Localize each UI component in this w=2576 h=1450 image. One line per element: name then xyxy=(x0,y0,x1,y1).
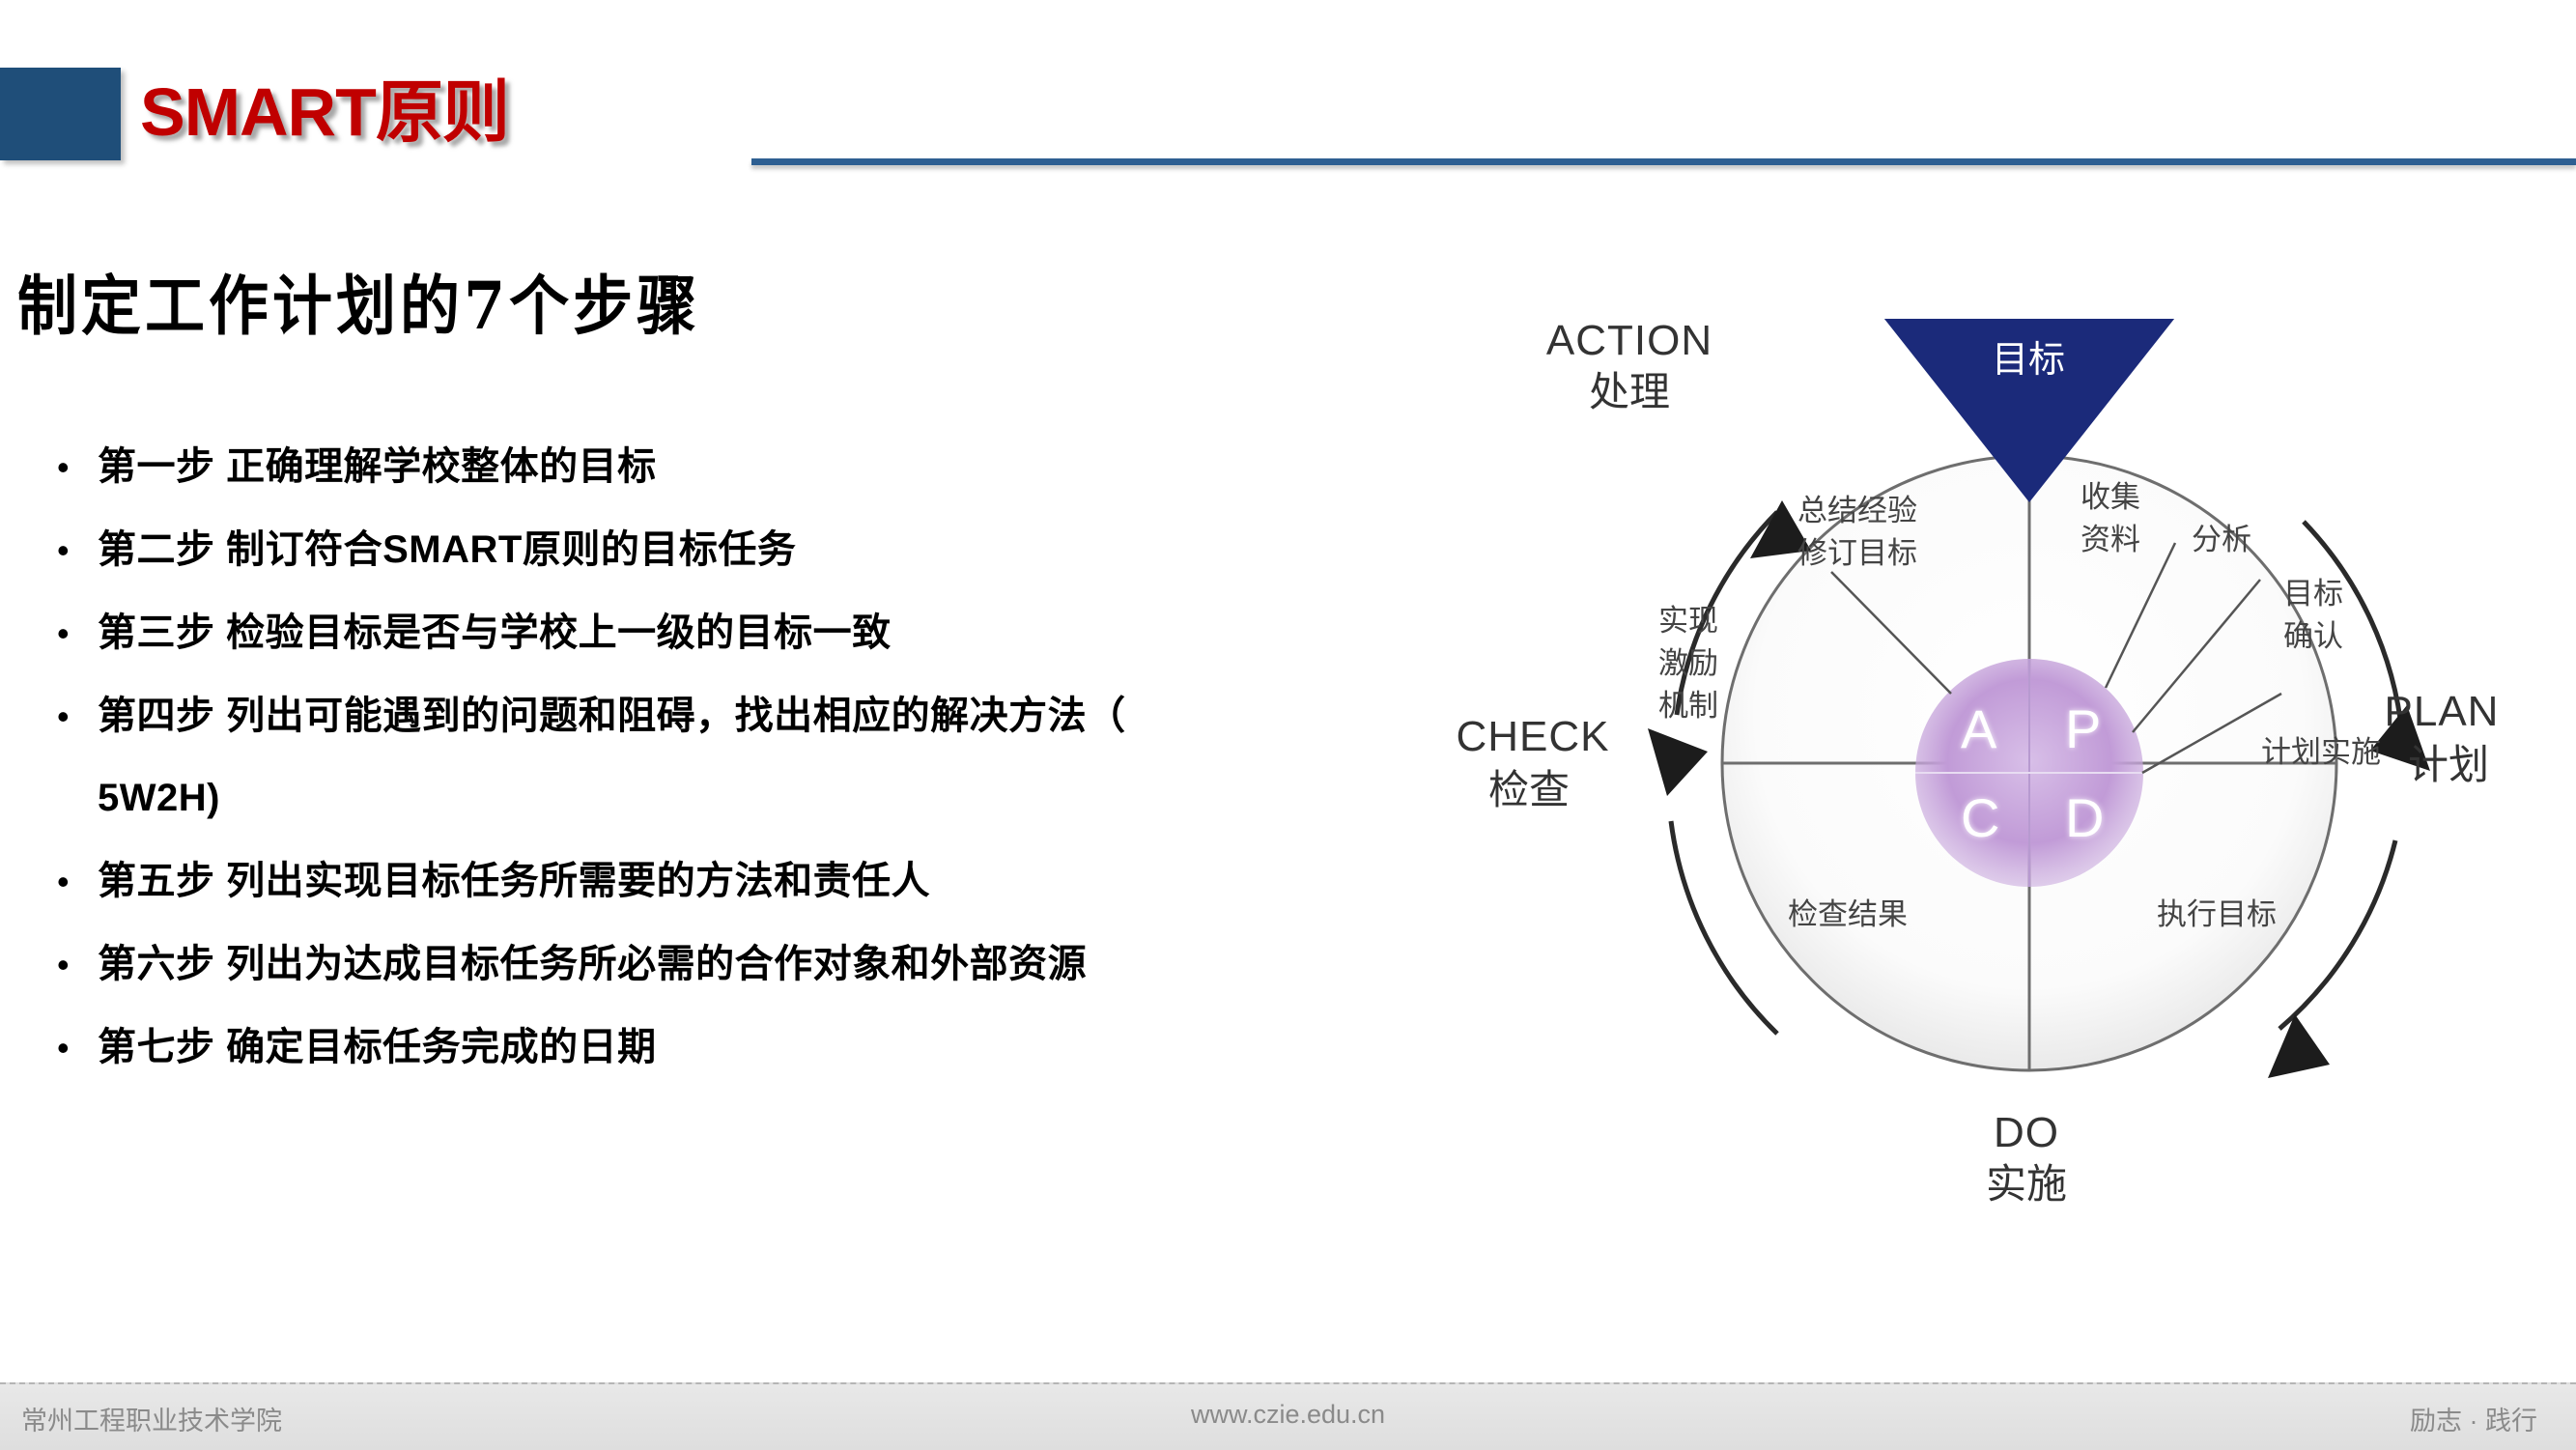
list-item-label: 第一步 正确理解学校整体的目标 xyxy=(98,440,657,495)
label-plan-implement: 计划实施 xyxy=(2210,736,2432,770)
list-item-line-2: 5W2H) xyxy=(98,771,1126,826)
stage-check-en: CHECK xyxy=(1402,713,1663,760)
label-collect-line2: 资料 xyxy=(2048,524,2173,557)
stage-do-cn: 实施 xyxy=(1949,1161,2104,1207)
list-item: • 第一步 正确理解学校整体的目标 xyxy=(53,440,1560,495)
page-title: SMART原则 xyxy=(140,64,509,160)
goal-banner-label: 目标 xyxy=(1956,340,2101,382)
bullet-marker-icon: • xyxy=(53,440,98,495)
stage-do-en: DO xyxy=(1949,1109,2104,1156)
quadrant-letter-c: C xyxy=(1961,786,1999,849)
label-realize-line1: 实现 xyxy=(1630,605,1746,639)
quadrant-letter-p: P xyxy=(2065,697,2101,760)
slide-title-bar: SMART原则 xyxy=(0,68,2576,174)
label-summary-line2: 修订目标 xyxy=(1746,537,1968,571)
stage-action-en: ACTION xyxy=(1499,317,1760,364)
label-realize-line2: 激励 xyxy=(1630,647,1746,681)
stage-check-cn: 检查 xyxy=(1447,767,1611,812)
list-item-line-1: 第四步 列出可能遇到的问题和阻碍，找出相应的解决方法（ xyxy=(98,695,1126,737)
pdca-cycle-diagram: 目标 ACTION 处理 PLAN 计划 CHECK 检查 DO 实施 收集 资… xyxy=(1487,319,2576,1304)
bullet-marker-icon: • xyxy=(53,854,98,909)
section-heading: 制定工作计划的7个步骤 xyxy=(17,253,700,347)
list-item-label: 第六步 列出为达成目标任务所必需的合作对象和外部资源 xyxy=(98,937,1087,992)
list-item: • 第六步 列出为达成目标任务所必需的合作对象和外部资源 xyxy=(53,937,1560,992)
title-divider-line xyxy=(751,158,2576,165)
slide-footer: 常州工程职业技术学院 www.czie.edu.cn 励志 · 践行 xyxy=(0,1382,2576,1450)
label-realize-line3: 机制 xyxy=(1630,690,1746,724)
quadrant-letter-a: A xyxy=(1961,697,1996,760)
label-execute-goal: 执行目标 xyxy=(2106,898,2328,932)
list-item: • 第五步 列出实现目标任务所需要的方法和责任人 xyxy=(53,854,1560,909)
title-accent-square xyxy=(0,68,121,160)
footer-motto: 励志 · 践行 xyxy=(2410,1400,2537,1437)
label-check-result: 检查结果 xyxy=(1737,898,1959,932)
footer-institution: 常州工程职业技术学院 xyxy=(21,1400,282,1437)
label-goal-confirm-line1: 目标 xyxy=(2250,578,2376,611)
list-item-label: 第五步 列出实现目标任务所需要的方法和责任人 xyxy=(98,854,930,909)
label-collect-line1: 收集 xyxy=(2048,481,2173,515)
stage-action-cn: 处理 xyxy=(1547,369,1712,414)
stage-plan-en: PLAN xyxy=(2326,688,2558,735)
list-item: • 第七步 确定目标任务完成的日期 xyxy=(53,1020,1560,1075)
bullet-marker-icon: • xyxy=(53,606,98,661)
list-item-label: 第七步 确定目标任务完成的日期 xyxy=(98,1020,657,1075)
list-item-label: 第四步 列出可能遇到的问题和阻碍，找出相应的解决方法（ 5W2H) xyxy=(98,689,1126,826)
quadrant-letter-d: D xyxy=(2065,786,2104,849)
label-analyze: 分析 xyxy=(2164,524,2279,557)
list-item: • 第四步 列出可能遇到的问题和阻碍，找出相应的解决方法（ 5W2H) xyxy=(53,689,1560,826)
label-goal-confirm-line2: 确认 xyxy=(2250,620,2376,654)
bullet-marker-icon: • xyxy=(53,937,98,992)
steps-list: • 第一步 正确理解学校整体的目标 • 第二步 制订符合SMART原则的目标任务… xyxy=(53,440,1560,1103)
list-item: • 第二步 制订符合SMART原则的目标任务 xyxy=(53,523,1560,578)
list-item-label: 第二步 制订符合SMART原则的目标任务 xyxy=(98,523,796,578)
list-item: • 第三步 检验目标是否与学校上一级的目标一致 xyxy=(53,606,1560,661)
list-item-label: 第三步 检验目标是否与学校上一级的目标一致 xyxy=(98,606,892,661)
bullet-marker-icon: • xyxy=(53,1020,98,1075)
footer-website: www.czie.edu.cn xyxy=(1191,1400,1385,1430)
label-summary-line1: 总结经验 xyxy=(1746,495,1968,528)
bullet-marker-icon: • xyxy=(53,689,98,744)
bullet-marker-icon: • xyxy=(53,523,98,578)
